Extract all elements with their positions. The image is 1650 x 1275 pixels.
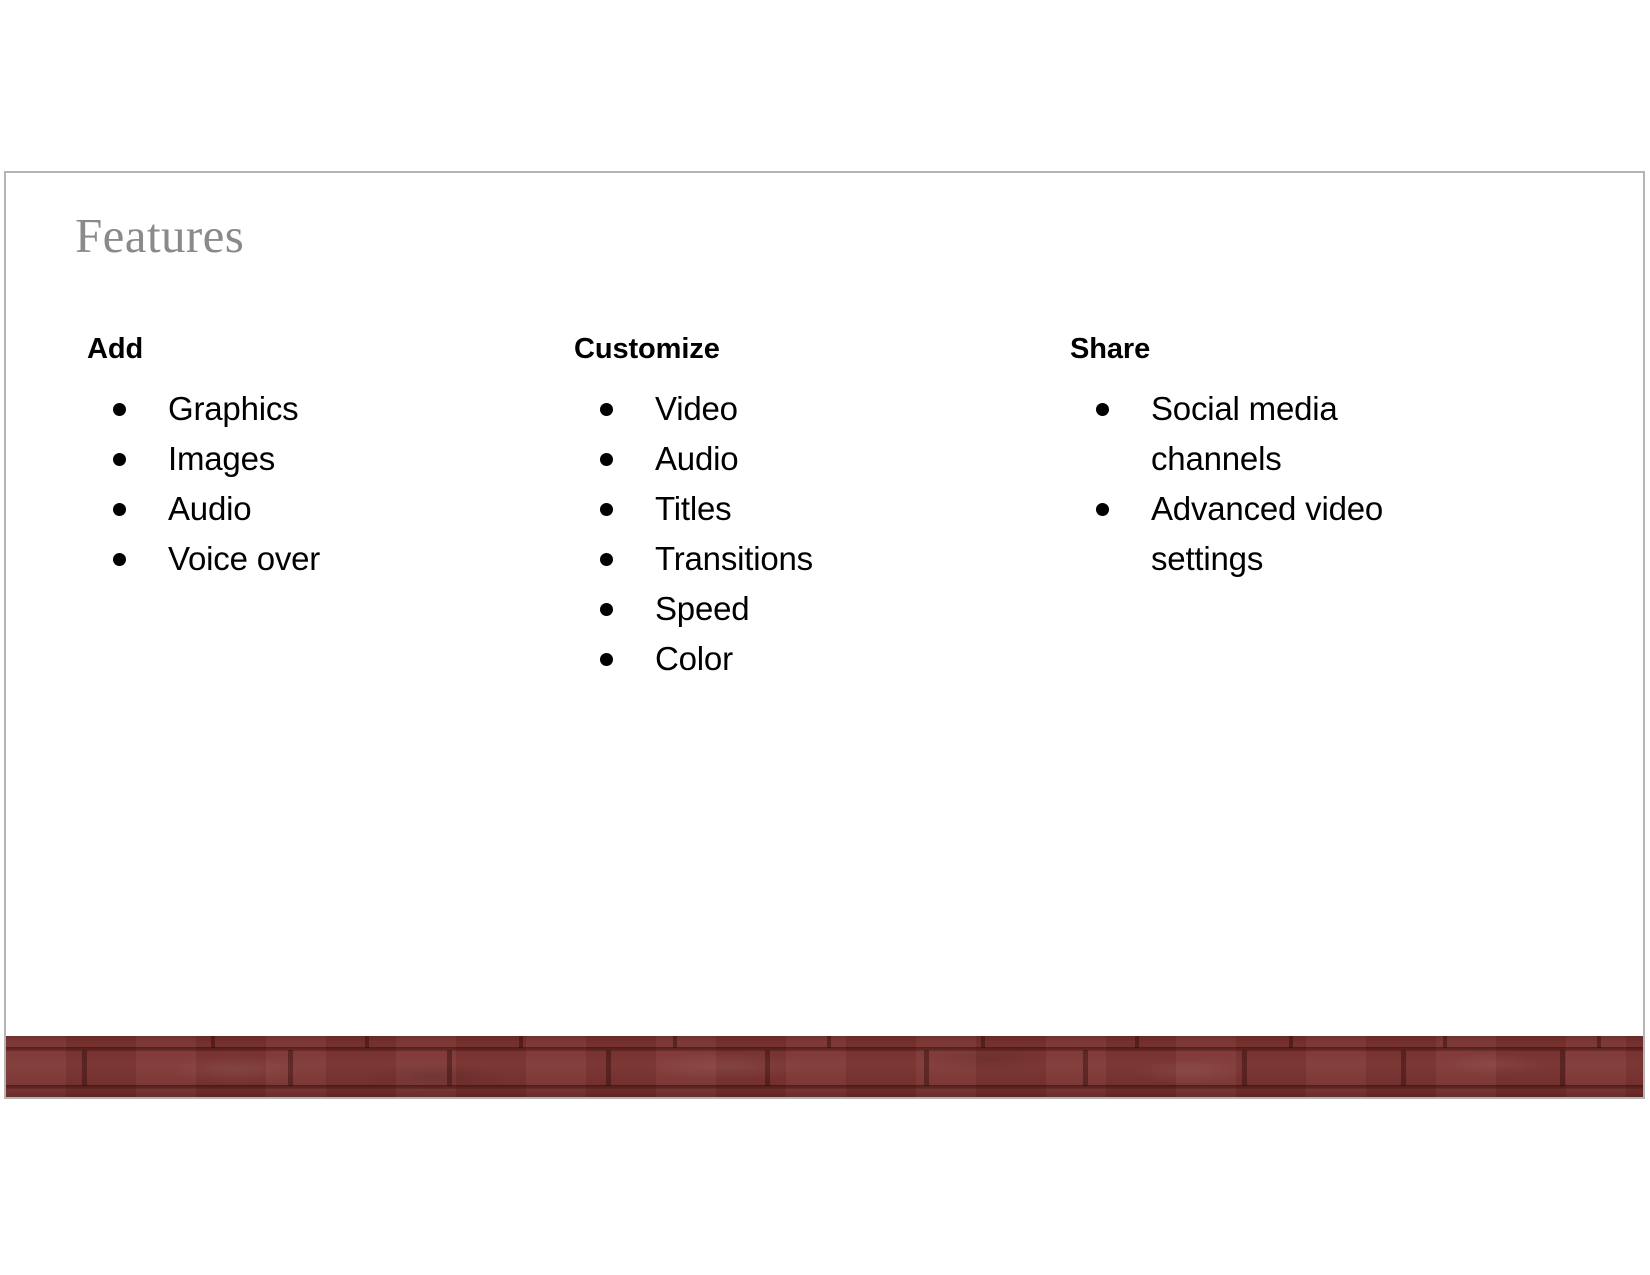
feature-column-customize: Customize Video Audio Titles	[574, 333, 994, 684]
list-item-label: Video	[655, 390, 738, 427]
bullet-list-customize: Video Audio Titles Transitions	[574, 384, 994, 684]
list-item: Speed	[574, 584, 994, 634]
list-item-label: Color	[655, 640, 733, 677]
feature-columns: Add Graphics Images Audio	[6, 333, 1643, 893]
list-item-label: Transitions	[655, 540, 813, 577]
list-item: Audio	[574, 434, 994, 484]
slide-canvas: Features Add Graphics Images Aud	[6, 173, 1643, 1097]
list-item-label: Social media channels	[1151, 390, 1338, 477]
brick-texture-layer	[6, 1036, 1643, 1097]
bullet-dot-icon	[113, 403, 126, 416]
slide-frame: Features Add Graphics Images Aud	[4, 171, 1645, 1099]
list-item: Video	[574, 384, 994, 434]
list-item-label: Audio	[168, 490, 251, 527]
column-heading-share: Share	[1070, 333, 1430, 366]
bullet-dot-icon	[600, 553, 613, 566]
list-item: Voice over	[87, 534, 507, 584]
bullet-dot-icon	[600, 603, 613, 616]
list-item-label: Graphics	[168, 390, 298, 427]
list-item-label: Advanced video settings	[1151, 490, 1383, 577]
bullet-dot-icon	[600, 453, 613, 466]
list-item-label: Speed	[655, 590, 749, 627]
list-item: Graphics	[87, 384, 507, 434]
bullet-list-add: Graphics Images Audio Voice over	[87, 384, 507, 584]
list-item: Images	[87, 434, 507, 484]
feature-column-share: Share Social media channels Advanced vid…	[1070, 333, 1430, 584]
list-item: Advanced video settings	[1070, 484, 1390, 584]
list-item: Transitions	[574, 534, 994, 584]
bullet-dot-icon	[113, 503, 126, 516]
column-heading-customize: Customize	[574, 333, 994, 366]
bullet-dot-icon	[1096, 503, 1109, 516]
bullet-dot-icon	[113, 553, 126, 566]
bullet-dot-icon	[600, 503, 613, 516]
brick-wall-footer	[6, 1036, 1643, 1097]
bullet-dot-icon	[1096, 403, 1109, 416]
list-item: Social media channels	[1070, 384, 1390, 484]
bullet-dot-icon	[113, 453, 126, 466]
column-heading-add: Add	[87, 333, 507, 366]
list-item-label: Audio	[655, 440, 738, 477]
list-item: Color	[574, 634, 994, 684]
list-item-label: Titles	[655, 490, 731, 527]
bullet-dot-icon	[600, 653, 613, 666]
list-item-label: Images	[168, 440, 275, 477]
list-item: Titles	[574, 484, 994, 534]
bullet-list-share: Social media channels Advanced video set…	[1070, 384, 1430, 584]
list-item: Audio	[87, 484, 507, 534]
feature-column-add: Add Graphics Images Audio	[87, 333, 507, 584]
bullet-dot-icon	[600, 403, 613, 416]
list-item-label: Voice over	[168, 540, 320, 577]
page-title: Features	[75, 209, 244, 263]
